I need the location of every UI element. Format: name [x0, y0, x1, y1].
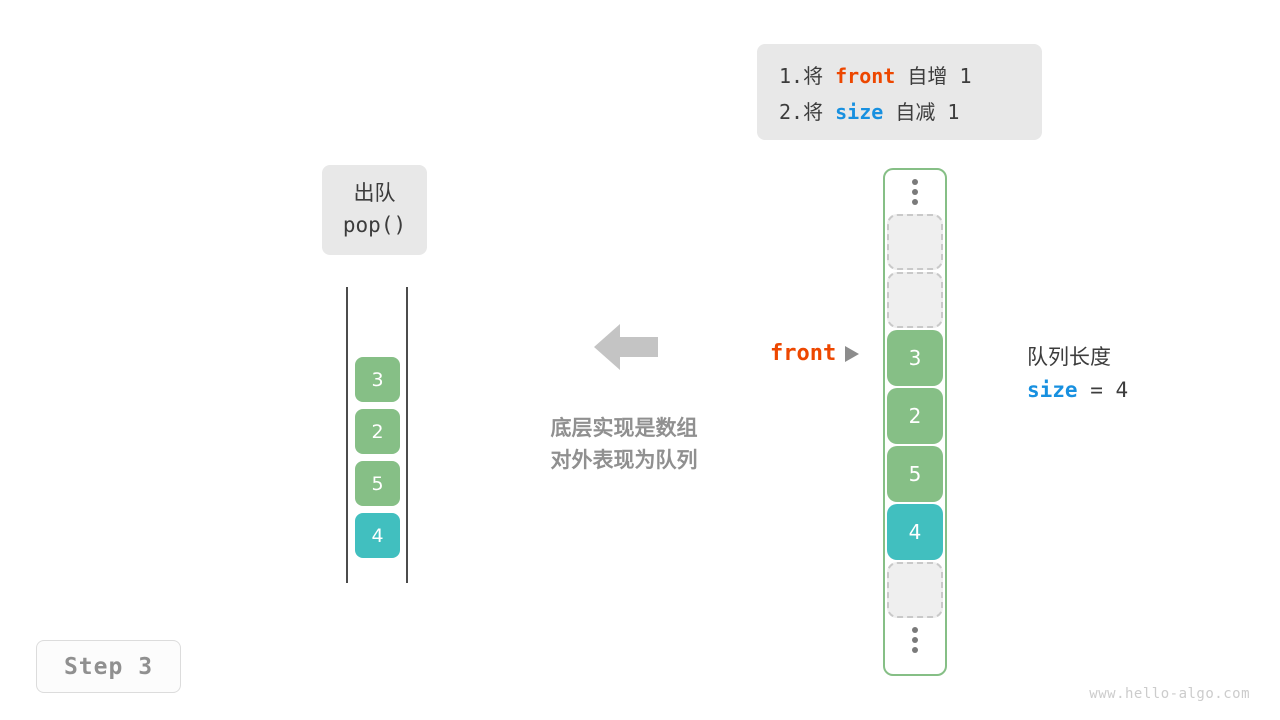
front-pointer-label: front: [770, 341, 836, 366]
array-cell-empty: [887, 562, 943, 618]
dequeue-instruction-box: 1.将 front 自增 1 2.将 size 自减 1: [757, 44, 1042, 140]
instruction-index-2: 2.: [779, 100, 803, 124]
size-annotation-expression: size = 4: [1027, 373, 1128, 407]
center-caption-line2: 对外表现为队列: [478, 444, 770, 476]
array-cell: 5: [887, 446, 943, 502]
logical-queue-cell: 2: [355, 409, 400, 454]
size-value: 4: [1116, 378, 1129, 402]
logical-queue-cells: 3254: [355, 357, 400, 565]
ellipsis-top-icon: [912, 170, 918, 214]
watermark: www.hello-algo.com: [1089, 686, 1250, 702]
step-badge: Step 3: [36, 640, 181, 693]
instruction-prefix-2: 将: [803, 100, 835, 124]
operation-code: pop(): [322, 209, 427, 241]
instruction-suffix-2: 自减 1: [883, 100, 959, 124]
instruction-line-1: 1.将 front 自增 1: [779, 58, 1020, 94]
size-variable-name: size: [1027, 378, 1078, 402]
operation-title: 出队: [322, 177, 427, 209]
array-cell: 3: [887, 330, 943, 386]
center-caption: 底层实现是数组 对外表现为队列: [478, 412, 770, 476]
array-cell-empty: [887, 214, 943, 270]
ellipsis-bottom-icon: [912, 618, 918, 662]
logical-queue-cell: 5: [355, 461, 400, 506]
array-cell: 4: [887, 504, 943, 560]
instruction-keyword-front: front: [835, 64, 895, 88]
instruction-index-1: 1.: [779, 64, 803, 88]
diagram-canvas: 1.将 front 自增 1 2.将 size 自减 1 出队 pop() 32…: [0, 0, 1280, 720]
step-badge-label: Step 3: [64, 654, 153, 680]
size-equals: =: [1078, 378, 1116, 402]
watermark-text: www.hello-algo.com: [1089, 686, 1250, 702]
front-pointer: front: [770, 341, 859, 366]
center-caption-line1: 底层实现是数组: [478, 412, 770, 444]
queue-rail-right: [406, 287, 408, 583]
array-cell-empty: [887, 272, 943, 328]
logical-queue-cell: 4: [355, 513, 400, 558]
instruction-line-2: 2.将 size 自减 1: [779, 94, 1020, 130]
left-arrow-icon: [594, 322, 658, 372]
size-annotation-title: 队列长度: [1027, 341, 1128, 373]
arrow-right-icon: [845, 346, 859, 362]
array-cell: 2: [887, 388, 943, 444]
physical-array-cells: 3254: [887, 214, 943, 618]
queue-rail-left: [346, 287, 348, 583]
instruction-keyword-size: size: [835, 100, 883, 124]
instruction-prefix-1: 将: [803, 64, 835, 88]
operation-label-box: 出队 pop(): [322, 165, 427, 255]
instruction-suffix-1: 自增 1: [895, 64, 971, 88]
logical-queue-view: 3254: [340, 285, 415, 585]
logical-queue-cell: 3: [355, 357, 400, 402]
physical-array-view: 3254: [883, 168, 947, 676]
size-annotation: 队列长度 size = 4: [1027, 341, 1128, 407]
